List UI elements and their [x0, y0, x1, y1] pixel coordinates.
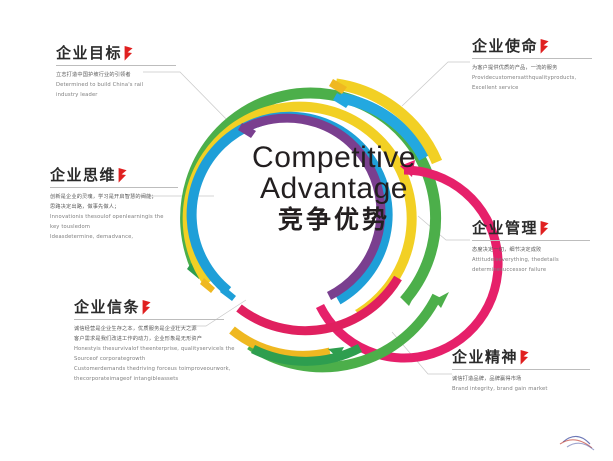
- callout-spirit-title: 企业精神: [452, 350, 518, 365]
- callout-management-rule: [472, 240, 590, 241]
- callout-spirit-head: 企业精神: [452, 350, 602, 365]
- callout-text-cn: 立志打造中国护坡行业的引领者: [56, 71, 188, 81]
- callout-thinking-body: 创新是企业的灵魂，学习是开启智慧的阀能； 思路决定出路，做事先做人； Innov…: [50, 193, 190, 243]
- callout-text-cn: 为客户提供优质的产品，一流的服务: [472, 64, 606, 74]
- callout-creed-body: 诚信经营是企业生存之本，优质服务是企业壮大之源 客户需求是我们改进工作的动力，企…: [74, 325, 234, 385]
- callout-thinking-title: 企业思维: [50, 168, 116, 183]
- callout-text-cn: 态度决定一切，细节决定成败: [472, 246, 606, 256]
- callout-text-en: Brand integrity, brand gain market: [452, 385, 602, 395]
- callout-mission-title: 企业使命: [472, 39, 538, 54]
- callout-management-body: 态度决定一切，细节决定成败 Attitudeiseverything, thed…: [472, 246, 606, 276]
- callout-mission: 企业使命 为客户提供优质的产品，一流的服务 Providecustomersat…: [472, 39, 606, 94]
- callout-thinking: 企业思维 创新是企业的灵魂，学习是开启智慧的阀能； 思路决定出路，做事先做人； …: [50, 168, 190, 243]
- callout-goal-body: 立志打造中国护坡行业的引领者 Determined to build China…: [56, 71, 188, 101]
- arc-ring: [177, 79, 498, 461]
- callout-text-en: Attitudeiseverything, thedetails: [472, 256, 606, 266]
- callout-spirit-body: 诚信打造品牌，品牌赢得市场 Brand integrity, brand gai…: [452, 375, 602, 395]
- red-flag-icon: [124, 46, 133, 61]
- callout-text-cn: 诚信打造品牌，品牌赢得市场: [452, 375, 602, 385]
- red-flag-icon: [520, 350, 529, 365]
- callout-text-en: key tousledom: [50, 223, 190, 233]
- callout-management: 企业管理 态度决定一切，细节决定成败 Attitudeiseverything,…: [472, 221, 606, 276]
- callout-spirit: 企业精神 诚信打造品牌，品牌赢得市场 Brand integrity, bran…: [452, 350, 602, 395]
- red-flag-icon: [540, 221, 549, 236]
- callout-text-en: Honestyis thesurvivalof theenterprise, q…: [74, 345, 234, 355]
- callout-text-en: Customerdemands thedriving forceus toimp…: [74, 365, 234, 375]
- callout-creed-rule: [74, 319, 224, 320]
- callout-text-cn: 诚信经营是企业生存之本，优质服务是企业壮大之源: [74, 325, 234, 335]
- callout-text-en: determinesuccessor failure: [472, 266, 606, 276]
- callout-goal-title: 企业目标: [56, 46, 122, 61]
- red-flag-icon: [118, 168, 127, 183]
- callout-creed-head: 企业信条: [74, 300, 234, 315]
- callout-text-en: Innovationis thesoulof openlearningis th…: [50, 213, 190, 223]
- callout-text-en: Ideasdetermine, demadvance,: [50, 233, 190, 243]
- callout-text-en: Providecustomersatthqualityproducts,: [472, 74, 606, 84]
- red-flag-icon: [142, 300, 151, 315]
- arc-crimson-bottom: [239, 278, 398, 331]
- callout-goal-head: 企业目标: [56, 46, 188, 61]
- callout-goal-rule: [56, 65, 176, 66]
- callout-mission-head: 企业使命: [472, 39, 606, 54]
- callout-thinking-head: 企业思维: [50, 168, 190, 183]
- callout-text-en: thecorporateimageof intangibleassets: [74, 375, 234, 385]
- red-flag-icon: [540, 39, 549, 54]
- callout-thinking-rule: [50, 187, 178, 188]
- callout-spirit-rule: [452, 369, 590, 370]
- callout-goal: 企业目标 立志打造中国护坡行业的引领者 Determined to build …: [56, 46, 188, 101]
- callout-text-en: Determined to build China's rail: [56, 81, 188, 91]
- callout-text-en: industry leader: [56, 91, 188, 101]
- callout-management-title: 企业管理: [472, 221, 538, 236]
- callout-text-cn: 创新是企业的灵魂，学习是开启智慧的阀能；: [50, 193, 190, 203]
- wave-watermark-icon: [560, 436, 594, 450]
- callout-text-en: Excellent service: [472, 84, 606, 94]
- callout-mission-rule: [472, 58, 592, 59]
- callout-creed: 企业信条 诚信经营是企业生存之本，优质服务是企业壮大之源 客户需求是我们改进工作…: [74, 300, 234, 385]
- callout-text-cn: 客户需求是我们改进工作的动力，企业形象是无形资产: [74, 335, 234, 345]
- callout-mission-body: 为客户提供优质的产品，一流的服务 Providecustomersatthqua…: [472, 64, 606, 94]
- callout-text-cn: 思路决定出路，做事先做人；: [50, 203, 190, 213]
- callout-management-head: 企业管理: [472, 221, 606, 236]
- callout-text-en: Sourceof corporategrowth: [74, 355, 234, 365]
- callout-creed-title: 企业信条: [74, 300, 140, 315]
